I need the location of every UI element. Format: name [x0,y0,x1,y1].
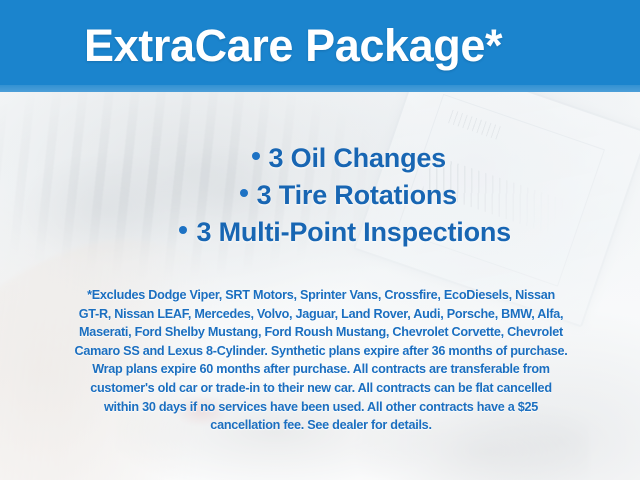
list-item: 3 Tire Rotations [0,177,512,214]
disclaimer-line: Camaro SS and Lexus 8-Cylinder. Syntheti… [52,342,590,361]
disclaimer-text: *Excludes Dodge Viper, SRT Motors, Sprin… [52,286,590,435]
disclaimer-line: within 30 days if no services have been … [52,398,590,417]
disclaimer-line: *Excludes Dodge Viper, SRT Motors, Sprin… [52,286,590,305]
list-item: 3 Multi-Point Inspections [0,214,512,251]
disclaimer-line: customer's old car or trade-in to their … [52,379,590,398]
banner-bottom-sheen [0,85,640,92]
benefit-label: 3 Multi-Point Inspections [196,217,511,247]
bullet-dot-icon [240,189,248,197]
benefits-list: 3 Oil Changes 3 Tire Rotations 3 Multi-P… [0,140,512,251]
disclaimer-line: GT-R, Nissan LEAF, Mercedes, Volvo, Jagu… [52,305,590,324]
page-title: ExtraCare Package* [84,19,502,73]
disclaimer-line: Maserati, Ford Shelby Mustang, Ford Rous… [52,323,590,342]
bullet-dot-icon [252,152,260,160]
list-item: 3 Oil Changes [0,140,512,177]
bullet-dot-icon [179,226,187,234]
disclaimer-line: cancellation fee. See dealer for details… [52,416,590,435]
benefit-label: 3 Tire Rotations [257,180,457,210]
disclaimer-line: Wrap plans expire 60 months after purcha… [52,360,590,379]
header-banner: ExtraCare Package* [0,0,640,92]
benefit-label: 3 Oil Changes [269,143,446,173]
extracare-package-ad: ExtraCare Package* 3 Oil Changes 3 Tire … [0,0,640,480]
